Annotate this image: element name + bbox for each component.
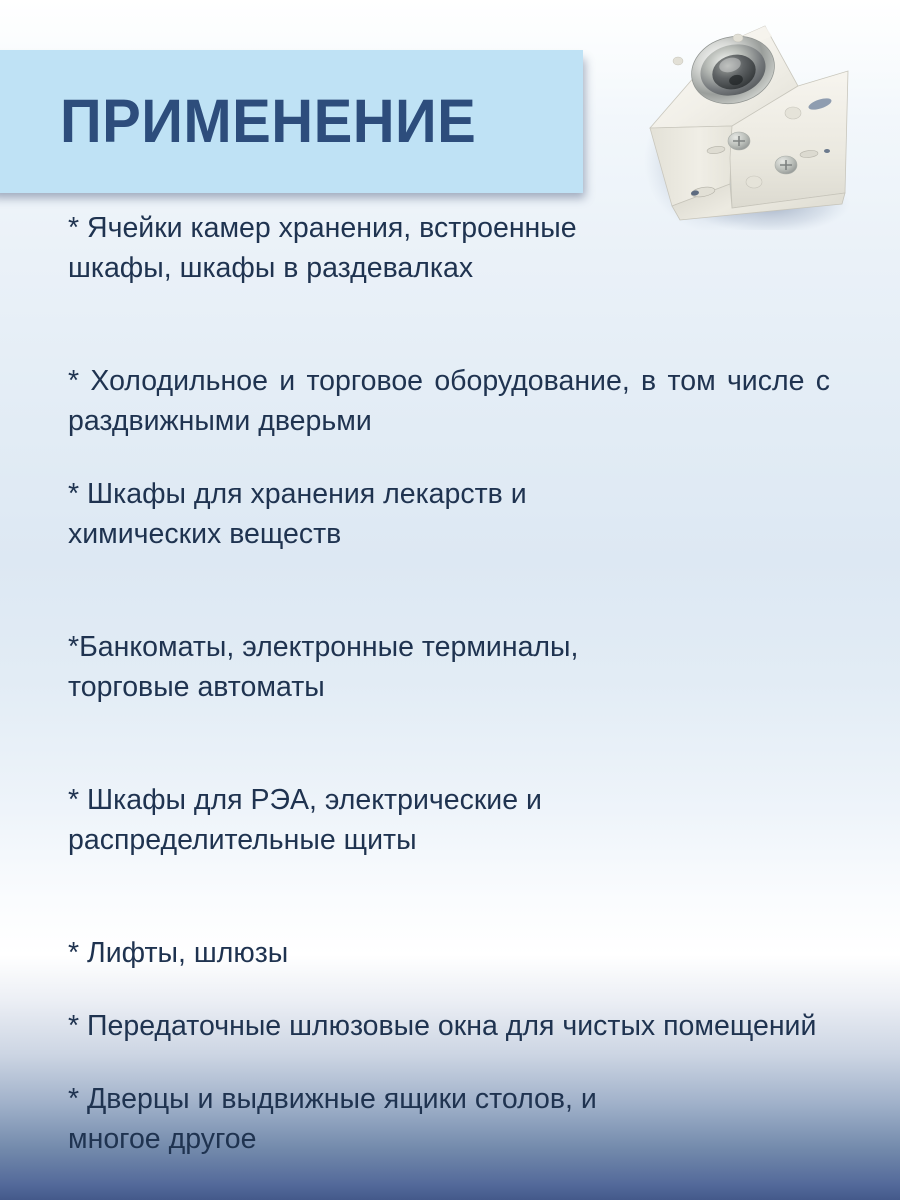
applications-list: * Ячейки камер хранения, встроенные шкаф… xyxy=(68,208,830,1199)
list-item-line-2: помещений xyxy=(663,1010,816,1042)
list-item: *Банкоматы, электронные терминалы, торго… xyxy=(68,627,830,747)
slide-root: ПРИМЕНЕНИЕ * Ячейки камер хранения, встр… xyxy=(0,0,900,1200)
list-item: * Холодильное и торговое оборудование, в… xyxy=(68,361,830,441)
list-item: * Дверцы и выдвижные ящики столов, и мно… xyxy=(68,1079,830,1199)
list-item-line-2: шкафы, шкафы в раздевалках xyxy=(68,248,830,288)
list-item: * Передаточные шлюзовые окна для чистых … xyxy=(68,1006,830,1046)
list-item-line-1: * Ячейки камер хранения, встроенные xyxy=(68,212,577,244)
list-item-line-2: распределительные щиты xyxy=(68,820,830,860)
list-item-line-2: химических веществ xyxy=(68,514,830,554)
list-item: * Шкафы для РЭА, электрические и распред… xyxy=(68,780,830,900)
product-photo xyxy=(620,8,900,230)
list-item: * Лифты, шлюзы xyxy=(68,933,830,973)
page-title: ПРИМЕНЕНИЕ xyxy=(60,91,476,152)
list-item-line-1: * Холодильное и торговое оборудование, в xyxy=(68,365,656,397)
list-item-line-1: * Лифты, шлюзы xyxy=(68,937,288,969)
list-item-line-1: * Шкафы для РЭА, электрические и xyxy=(68,784,542,816)
list-item-line-2: торговые автоматы xyxy=(68,667,830,707)
list-item-line-1: * Шкафы для хранения лекарств и xyxy=(68,478,527,510)
list-item-line-2: многое другое xyxy=(68,1119,830,1159)
list-item: * Шкафы для хранения лекарств и химическ… xyxy=(68,474,830,594)
list-item-line-1: * Передаточные шлюзовые окна для чистых xyxy=(68,1010,655,1042)
title-banner: ПРИМЕНЕНИЕ xyxy=(0,50,583,193)
list-item: * Ячейки камер хранения, встроенные шкаф… xyxy=(68,208,830,328)
list-item-line-1: * Дверцы и выдвижные ящики столов, и xyxy=(68,1083,597,1115)
list-item-line-1: *Банкоматы, электронные терминалы, xyxy=(68,631,578,663)
